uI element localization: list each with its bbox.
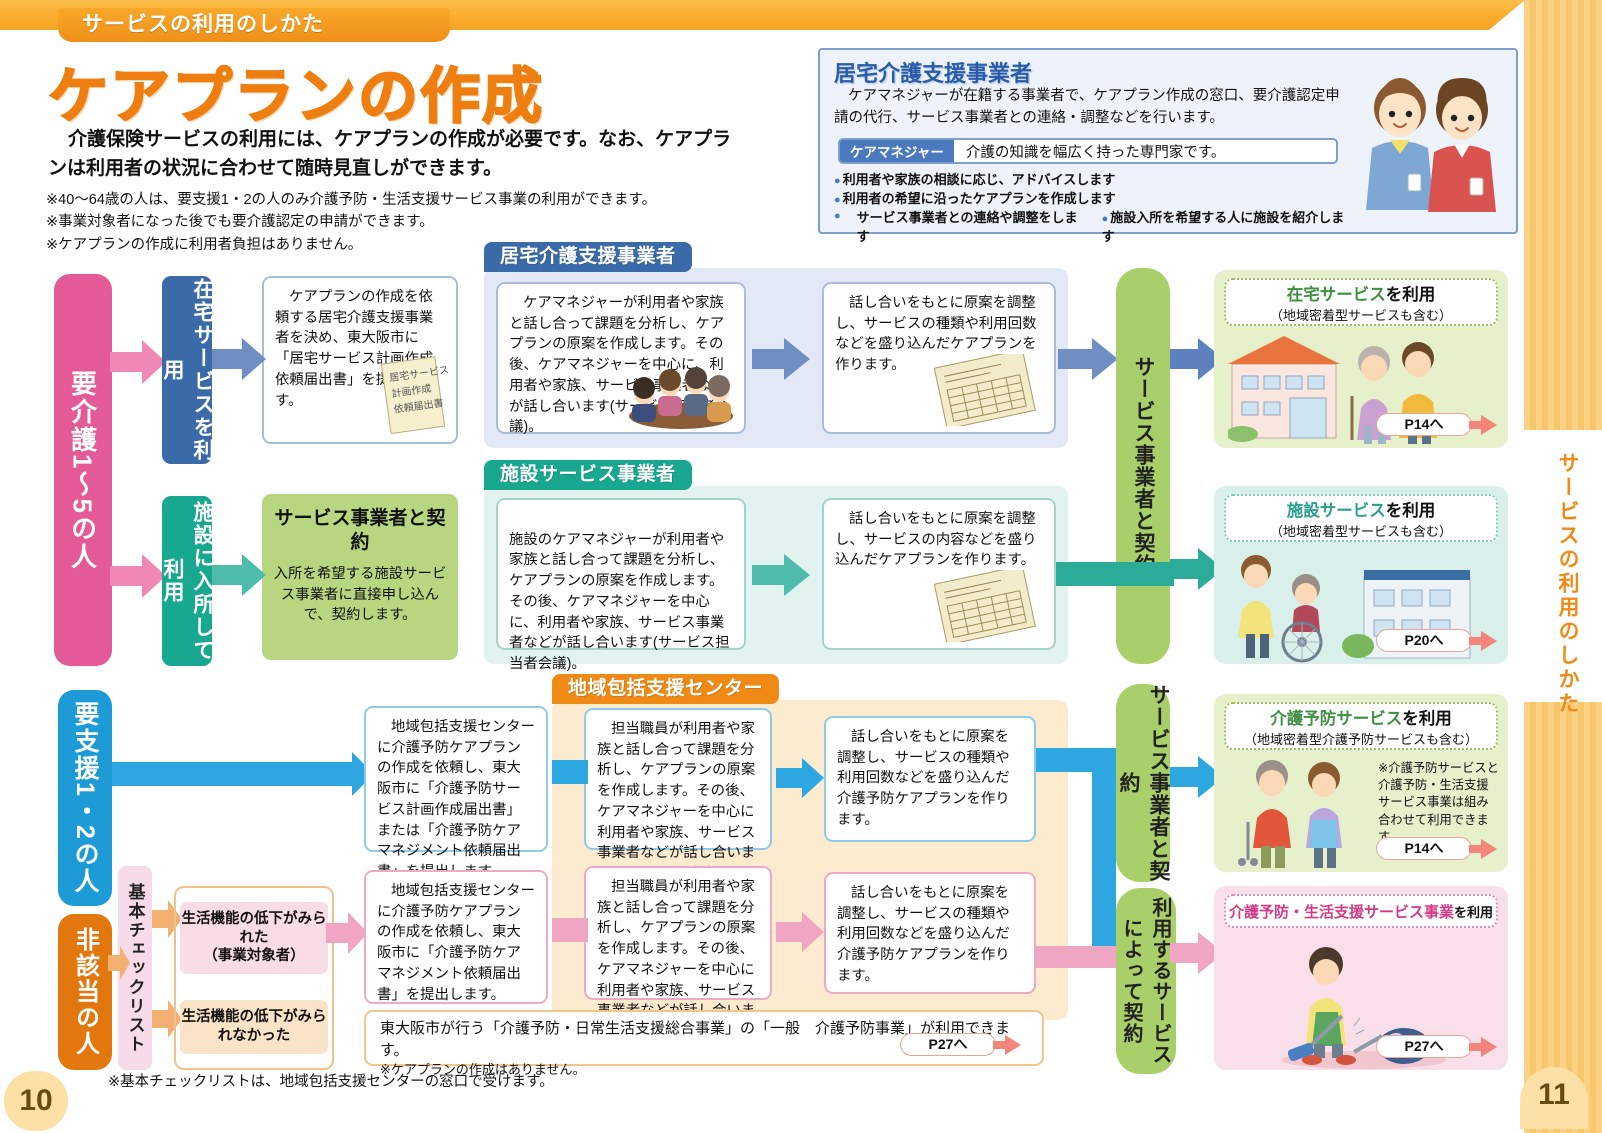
result-zaitaku-title: 在宅サービスを利用 — [1287, 281, 1436, 305]
ippan-page-link[interactable]: P27へ — [900, 1033, 996, 1056]
info-box-body: ケアマネジャーが在籍する事業者で、ケアプラン作成の窓口、要介護認定申請の代行、サ… — [834, 86, 1344, 130]
page-title: ケアプランの作成 — [48, 48, 544, 135]
row-jigyou-step2-card: 話し合いをもとに原案を調整し、サービスの種類や利用回数などを盛り込んだ介護予防ケ… — [824, 872, 1036, 994]
care-manager-illustration — [1350, 70, 1510, 230]
panel-shisetsu-title: 施設サービス事業者 — [484, 460, 692, 490]
note-1: ※40〜64歳の人は、要支援1・2の人のみ介護予防・生活支援サービス事業の利用が… — [46, 189, 766, 211]
row-jigyou-step2-text: 話し合いをもとに原案を調整し、サービスの種類や利用回数などを盛り込んだ介護予防ケ… — [837, 885, 1010, 984]
contract-pill-1: サービス事業者と契約 — [1116, 268, 1170, 664]
row-jigyou-intake-text: 地域包括支援センターに介護予防ケアプランの作成を依頼し、東大阪市に「介護予防ケア… — [377, 883, 535, 1003]
row-shisetsu-intake-title: サービス事業者と契約 — [273, 507, 447, 556]
category-hi-gaito: 非該当の人 — [58, 914, 112, 1070]
footnote: ※基本チェックリストは、地域包括支援センターの窓口で受けます。 — [108, 1070, 554, 1091]
arrow-checklist-to-decline-no — [152, 1000, 182, 1038]
row-jigyou-intake-card: 地域包括支援センターに介護予防ケアプランの作成を依頼し、東大阪市に「介護予防ケア… — [364, 870, 548, 1004]
care-manager-tag: ケアマネジャー — [840, 140, 954, 162]
row-shisetsu-step2-card: 話し合いをもとに原案を調整し、サービスの内容などを盛り込んだケアプランを作ります… — [822, 498, 1056, 650]
row-yobou-intake-text: 地域包括支援センターに介護予防ケアプランの作成を依頼し、東大阪市に「介護予防サー… — [377, 719, 535, 880]
arrow-decline-yes-to-intake — [326, 912, 368, 954]
row-shisetsu-intake-card: サービス事業者と契約 入所を希望する施設サービス事業者に直接申し込んで、契約しま… — [262, 494, 458, 660]
info-box: 居宅介護支援事業者 ケアマネジャーが在籍する事業者で、ケアプラン作成の窓口、要介… — [818, 48, 1518, 234]
connector-yobou-in — [552, 760, 588, 784]
connector-jigyou-in — [552, 918, 588, 942]
result-shisetsu: 施設サービスを利用 （地域密着型サービスも含む） P20へ — [1214, 486, 1508, 664]
application-form-icon: 居宅サービス 計画作成 依頼届出書 — [378, 356, 450, 434]
prevention-service-illustration — [1228, 756, 1378, 872]
result-jigyou-page-link[interactable]: P27へ — [1376, 1035, 1472, 1058]
result-zaitaku-head: 在宅サービスを利用 （地域密着型サービスも含む） — [1224, 278, 1498, 326]
row-shisetsu-step2-text: 話し合いをもとに原案を調整し、サービスの内容などを盛り込んだケアプランを作ります… — [835, 511, 1036, 568]
category-hi-label: 非該当の人 — [68, 927, 103, 1057]
contract-pill-3: 利用するサービスによって契約 — [1116, 888, 1176, 1074]
row-zaitaku-step1-card: ケアマネジャーが利用者や家族と話し合って課題を分析し、ケアプランの原案を作成しま… — [496, 282, 746, 434]
care-manager-desc: 介護の知識を幅広く持った専門家です。 — [954, 141, 1226, 162]
category-shien-label: 要支援1・2の人 — [67, 701, 103, 895]
contract-pill-1-label: サービス事業者と契約 — [1128, 356, 1158, 576]
arrow-shisetsu-step-1 — [212, 554, 266, 596]
result-yobou-head: 介護予防サービスを利用 （地域密着型介護予防サービスも含む） — [1224, 702, 1498, 750]
bullet-2: 利用者の希望に沿ったケアプランを作成します — [834, 189, 1354, 208]
row-yobou-step1-card: 担当職員が利用者や家族と話し合って課題を分析し、ケアプランの原案を作成します。そ… — [584, 708, 772, 850]
result-shisetsu-sub: （地域密着型サービスも含む） — [1270, 521, 1452, 540]
result-jigyou-head: 介護予防・生活支援サービス事業を利用 — [1224, 894, 1498, 928]
bullet-4: 施設入所を希望する人に施設を紹介します — [1102, 208, 1354, 246]
side-tab-label: サービスの利用のしかた — [1546, 452, 1582, 716]
page-lede: 介護保険サービスの利用には、ケアプランの作成が必要です。なお、ケアプランは利用者… — [48, 126, 748, 184]
step-enter-facility-label: 施設に入所して利用 — [157, 496, 217, 666]
result-shisetsu-head: 施設サービスを利用 （地域密着型サービスも含む） — [1224, 494, 1498, 542]
care-manager-row: ケアマネジャー 介護の知識を幅広く持った専門家です。 — [838, 138, 1338, 164]
row-shisetsu-step1-card: 施設のケアマネジャーが利用者や家族と話し合って課題を分析し、ケアプランの原案を作… — [496, 498, 746, 650]
category-kaigo-1-5: 要介護1〜5の人 — [54, 274, 112, 666]
category-kaigo-label: 要介護1〜5の人 — [65, 370, 102, 571]
info-box-bullets: 利用者や家族の相談に応じ、アドバイスします 利用者の希望に沿ったケアプランを作成… — [834, 170, 1354, 247]
result-zaitaku: 在宅サービスを利用 （地域密着型サービスも含む） P14へ — [1214, 270, 1508, 448]
result-zaitaku-sub: （地域密着型サービスも含む） — [1270, 305, 1452, 324]
result-yobou-note: ※介護予防サービスと介護予防・生活支援サービス事業は組み合わせて利用できます。 — [1378, 760, 1500, 846]
result-zaitaku-page-link[interactable]: P14へ — [1376, 413, 1472, 436]
arrow-zaitaku-step-1 — [212, 338, 266, 380]
page-number-left: 10 — [4, 1071, 68, 1131]
arrow-hi-to-checklist — [108, 946, 130, 980]
row-zaitaku-step2-card: 話し合いをもとに原案を調整し、サービスの種類や利用回数などを盛り込んだケアプラン… — [822, 282, 1056, 434]
contract-pill-3-label: 利用するサービスによって契約 — [1117, 888, 1175, 1074]
row-shisetsu-intake-body: 入所を希望する施設サービス事業者に直接申し込んで、契約します。 — [273, 564, 447, 627]
page-number-right: 11 — [1520, 1067, 1588, 1129]
arrow-checklist-to-decline-yes — [152, 900, 182, 938]
step-use-home-service-label: 在宅サービスを利用 — [157, 276, 217, 464]
banner-tab-label: サービスの利用のしかた — [58, 8, 450, 42]
info-box-title: 居宅介護支援事業者 — [834, 56, 1032, 88]
result-yobou-page-link[interactable]: P14へ — [1376, 837, 1472, 860]
care-plan-sheet-icon — [932, 354, 1040, 426]
result-yobou-title: 介護予防サービスを利用 — [1270, 705, 1452, 729]
panel-yobou-title: 地域包括支援センター — [552, 674, 779, 704]
result-yobou-sub: （地域密着型介護予防サービスも含む） — [1244, 729, 1478, 748]
contract-pill-2-label: サービス事業者と契約 — [1113, 684, 1173, 882]
arrow-shisetsu-step-2 — [752, 554, 810, 596]
result-shisetsu-page-link[interactable]: P20へ — [1376, 629, 1472, 652]
decline-yes-box: 生活機能の低下がみられた （事業対象者） — [180, 902, 328, 974]
bullet-1: 利用者や家族の相談に応じ、アドバイスします — [834, 170, 1354, 189]
step-use-home-service: 在宅サービスを利用 — [162, 276, 212, 464]
result-jigyou-title: 介護予防・生活支援サービス事業を利用 — [1229, 901, 1493, 922]
step-enter-facility: 施設に入所して利用 — [162, 496, 212, 666]
row-yobou-step2-text: 話し合いをもとに原案を調整し、サービスの種類や利用回数などを盛り込んだ介護予防ケ… — [837, 729, 1010, 828]
row-yobou-intake-card: 地域包括支援センターに介護予防ケアプランの作成を依頼し、東大阪市に「介護予防サー… — [364, 706, 548, 852]
decline-no-box: 生活機能の低下がみられなかった — [180, 1000, 328, 1054]
arrow-zaitaku-step-2 — [752, 338, 810, 380]
contract-pill-2: サービス事業者と契約 — [1116, 684, 1170, 882]
ippan-box: 東大阪市が行う「介護予防・日常生活支援総合事業」の「一般 介護予防事業」が利用で… — [364, 1010, 1044, 1066]
decline-yes-label: 生活機能の低下がみられた （事業対象者） — [180, 910, 328, 967]
arrow-yobou-step-2 — [776, 758, 824, 798]
row-shisetsu-step1-text: 施設のケアマネジャーが利用者や家族と話し合って課題を分析し、ケアプランの原案を作… — [509, 532, 730, 672]
panel-zaitaku-title: 居宅介護支援事業者 — [484, 242, 692, 272]
connector-shisetsu — [1056, 562, 1174, 586]
row-zaitaku-intake-card: ケアプランの作成を依頼する居宅介護支援事業者を決め、東大阪市に「居宅サービス計画… — [262, 276, 458, 444]
result-yobou: 介護予防サービスを利用 （地域密着型介護予防サービスも含む） ※介護予防サービス… — [1214, 694, 1508, 872]
decline-no-label: 生活機能の低下がみられなかった — [180, 1008, 328, 1046]
care-plan-sheet-icon-2 — [932, 570, 1040, 642]
category-shien-1-2: 要支援1・2の人 — [58, 690, 112, 906]
result-jigyou: 介護予防・生活支援サービス事業を利用 P27へ — [1214, 886, 1508, 1070]
row-jigyou-step1-card: 担当職員が利用者や家族と話し合って課題を分析し、ケアプランの原案を作成します。そ… — [584, 866, 772, 1000]
arrow-jigyou-step-2 — [776, 912, 824, 952]
arrow-zaitaku-to-contract — [1058, 338, 1118, 380]
result-shisetsu-title: 施設サービスを利用 — [1287, 497, 1436, 521]
connector-shien — [112, 762, 362, 786]
note-2: ※事業対象者になった後でも要介護認定の申請ができます。 — [46, 211, 766, 233]
meeting-illustration — [622, 364, 740, 430]
bullet-3: サービス事業者との連絡や調整をします — [857, 208, 1088, 246]
row-yobou-step2-card: 話し合いをもとに原案を調整し、サービスの種類や利用回数などを盛り込んだ介護予防ケ… — [824, 716, 1036, 842]
